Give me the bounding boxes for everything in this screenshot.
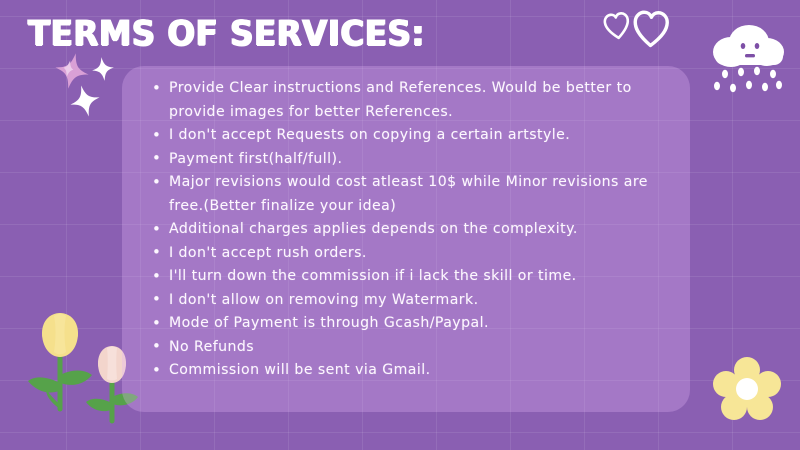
sparkle-icon — [92, 57, 114, 81]
page-title: TERMS OF SERVICES: — [28, 12, 425, 56]
heart-outline-icon — [602, 10, 632, 41]
list-item: I don't allow on removing my Watermark. — [152, 289, 674, 313]
sparkle-icon — [55, 53, 89, 89]
list-item: I don't accept Requests on copying a cer… — [152, 124, 674, 148]
list-item: Provide Clear instructions and Reference… — [152, 77, 674, 124]
terms-card: Provide Clear instructions and Reference… — [122, 66, 690, 412]
rain-cloud-icon — [705, 22, 791, 104]
flower-icon — [712, 355, 782, 425]
terms-of-service-poster: TERMS OF SERVICES: Provide Clear instruc… — [0, 0, 800, 450]
terms-list: Provide Clear instructions and Reference… — [152, 77, 674, 383]
list-item: Commission will be sent via Gmail. — [152, 359, 674, 383]
list-item: Payment first(half/full). — [152, 148, 674, 172]
list-item: I'll turn down the commission if i lack … — [152, 265, 674, 289]
list-item: Additional charges applies depends on th… — [152, 218, 674, 242]
list-item: I don't accept rush orders. — [152, 242, 674, 266]
list-item: Major revisions would cost atleast 10$ w… — [152, 171, 674, 218]
sparkle-icon — [70, 85, 100, 117]
heart-outline-icon — [632, 9, 669, 48]
list-item: Mode of Payment is through Gcash/Paypal. — [152, 312, 674, 336]
list-item: No Refunds — [152, 336, 674, 360]
